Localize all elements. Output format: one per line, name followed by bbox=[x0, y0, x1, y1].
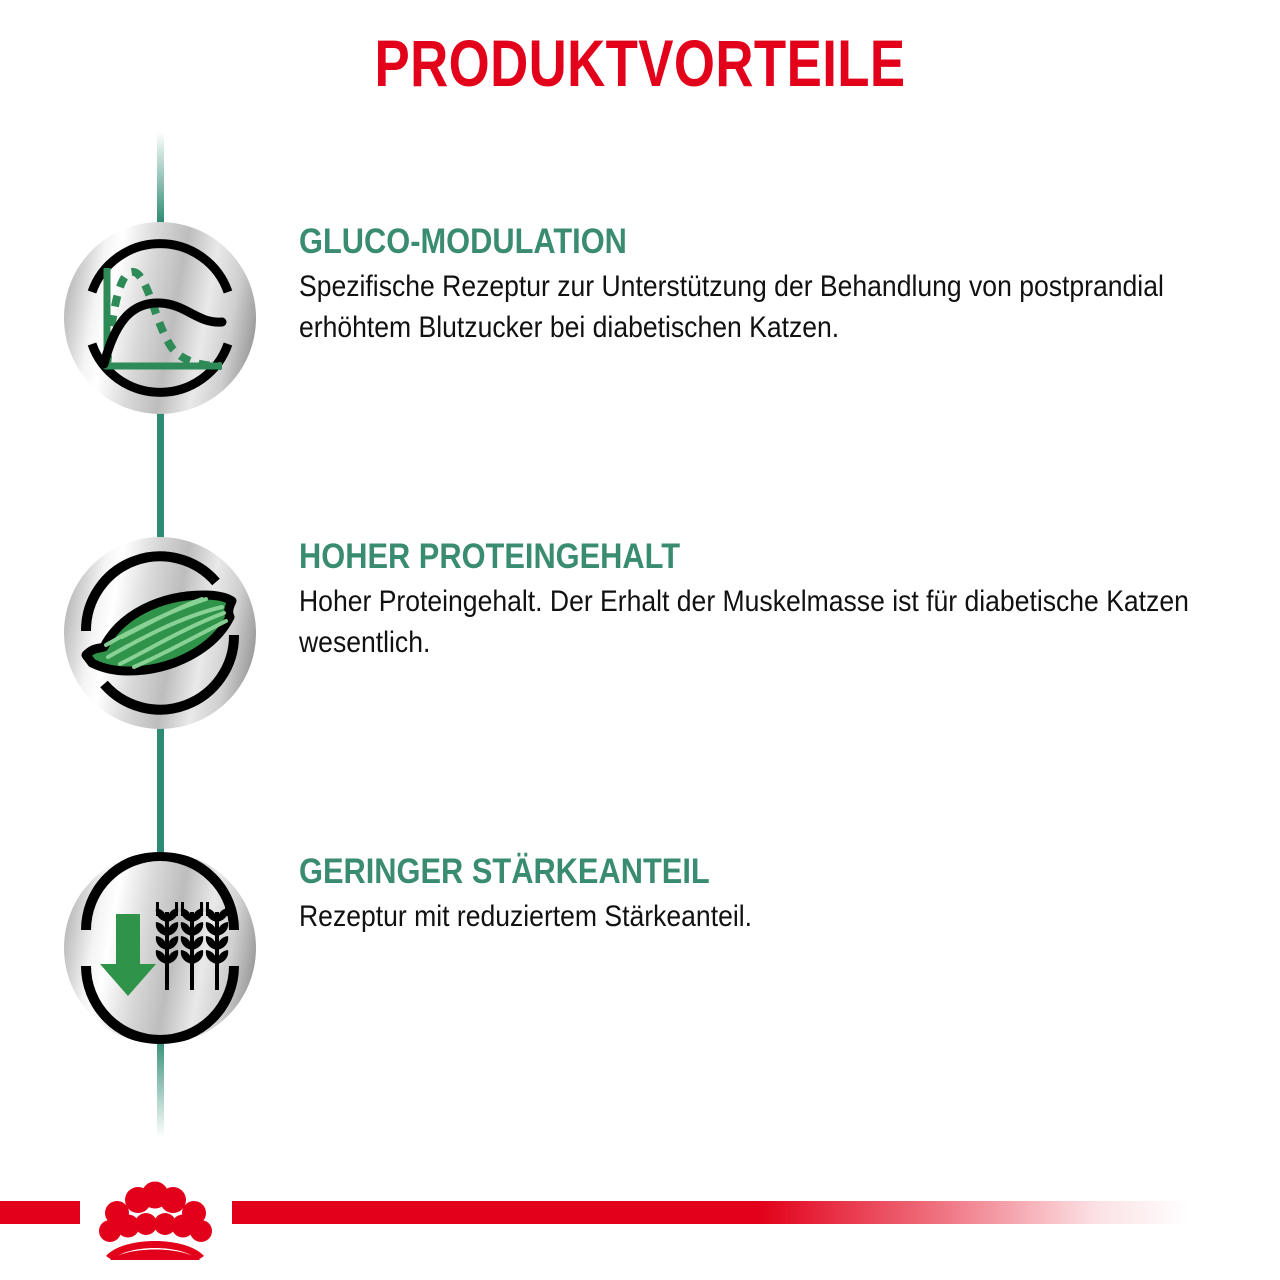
benefit-icon-badge bbox=[64, 222, 256, 414]
benefit-description: Hoher Proteingehalt. Der Erhalt der Musk… bbox=[299, 581, 1222, 663]
footer-bar-left bbox=[0, 1201, 80, 1224]
benefit-icon-badge bbox=[64, 852, 256, 1044]
benefit-heading: GLUCO-MODULATION bbox=[299, 222, 1113, 262]
royal-canin-crown-logo bbox=[84, 1156, 226, 1260]
benefit-description: Spezifische Rezeptur zur Unterstützung d… bbox=[299, 266, 1222, 348]
benefit-heading: HOHER PROTEINGEHALT bbox=[299, 537, 1113, 577]
page-title: PRODUKTVORTEILE bbox=[128, 24, 1152, 102]
benefit-text-block: GERINGER STÄRKEANTEIL Rezeptur mit reduz… bbox=[299, 852, 1224, 937]
benefit-heading: GERINGER STÄRKEANTEIL bbox=[299, 852, 1113, 892]
glucose-curve-icon bbox=[64, 222, 256, 414]
crown-icon bbox=[84, 1156, 226, 1260]
reduced-starch-icon bbox=[64, 852, 256, 1044]
footer bbox=[0, 1196, 1280, 1280]
muscle-fiber-icon bbox=[64, 537, 256, 729]
benefit-icon-badge bbox=[64, 537, 256, 729]
footer-bar-right bbox=[232, 1201, 1190, 1224]
benefit-text-block: HOHER PROTEINGEHALT Hoher Proteingehalt.… bbox=[299, 537, 1224, 663]
benefit-text-block: GLUCO-MODULATION Spezifische Rezeptur zu… bbox=[299, 222, 1224, 348]
benefit-description: Rezeptur mit reduziertem Stärkeanteil. bbox=[299, 896, 1222, 937]
